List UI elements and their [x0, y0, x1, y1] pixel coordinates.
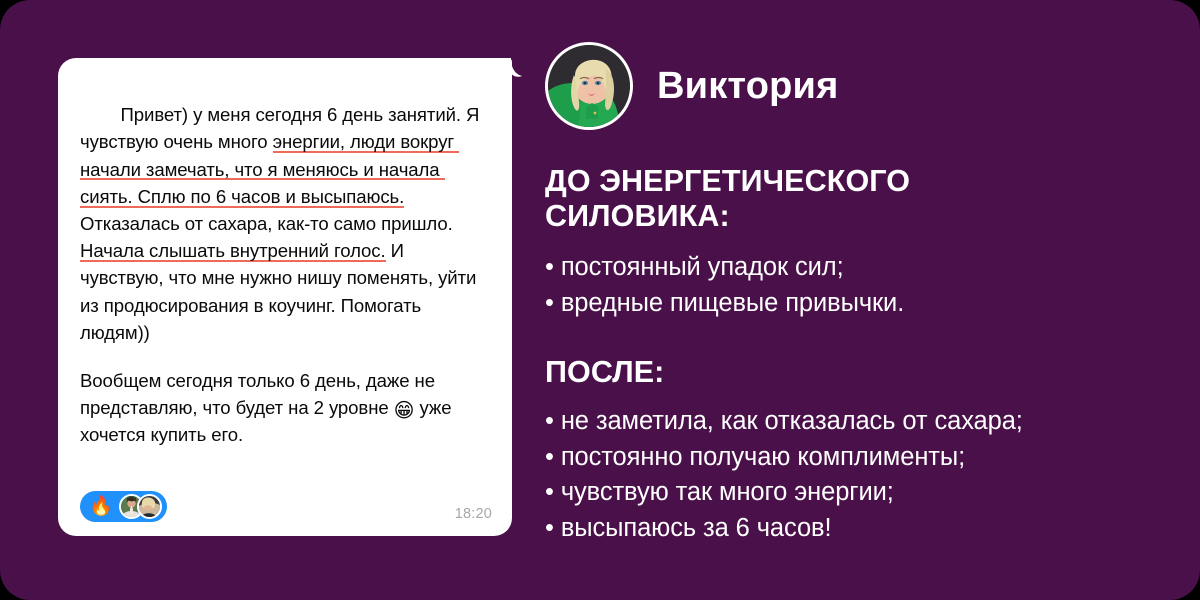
message-paragraph-1: Привет) у меня сегодня 6 день занятий. Я…	[80, 104, 484, 343]
message-reaction-pill[interactable]: 🔥	[80, 491, 167, 522]
message-text: Привет) у меня сегодня 6 день занятий. Я…	[80, 74, 492, 476]
list-item: •постоянно получаю комплименты;	[545, 440, 1174, 476]
underlined-phrase-1: энергии, люди вокруг начали замечать, чт…	[80, 131, 459, 207]
grinning-face-emoji: 😁	[394, 400, 415, 422]
bubble-tail-icon	[509, 58, 523, 80]
paragraph-spacer	[80, 346, 492, 367]
message-paragraph-2: Вообщем сегодня только 6 день, даже не п…	[80, 370, 457, 445]
section-after-title: ПОСЛЕ:	[545, 355, 1174, 390]
content-pane: Виктория ДО ЭНЕРГЕТИЧЕСКОГО СИЛОВИКА: •п…	[538, 0, 1200, 600]
message-timestamp: 18:20	[455, 506, 492, 522]
bullet-icon: •	[545, 289, 554, 317]
list-item-label: постоянно получаю комплименты;	[561, 443, 965, 471]
list-item: •вредные пищевые привычки.	[545, 286, 1174, 322]
reactor-avatar-2	[137, 494, 162, 519]
bullet-icon: •	[545, 514, 554, 542]
reactor-avatar-stack	[119, 494, 162, 519]
section-before-title: ДО ЭНЕРГЕТИЧЕСКОГО СИЛОВИКА:	[545, 164, 1174, 234]
section-before: ДО ЭНЕРГЕТИЧЕСКОГО СИЛОВИКА: •постоянный…	[545, 164, 1174, 321]
list-item-label: не заметила, как отказалась от сахара;	[561, 407, 1023, 435]
chat-message-bubble: Привет) у меня сегодня 6 день занятий. Я…	[58, 58, 512, 536]
author-name: Виктория	[657, 65, 839, 108]
section-before-list: •постоянный упадок сил; •вредные пищевые…	[545, 250, 1174, 321]
author-row: Виктория	[545, 42, 1174, 130]
bullet-icon: •	[545, 443, 554, 471]
chat-screenshot-pane: Привет) у меня сегодня 6 день занятий. Я…	[0, 0, 530, 600]
list-item-label: чувствую так много энергии;	[561, 478, 894, 506]
list-item: •чувствую так много энергии;	[545, 475, 1174, 511]
list-item-label: высыпаюсь за 6 часов!	[561, 514, 832, 542]
underlined-phrase-2: Начала слышать внутренний голос.	[80, 240, 386, 262]
list-item: •не заметила, как отказалась от сахара;	[545, 404, 1174, 440]
list-item: •высыпаюсь за 6 часов!	[545, 511, 1174, 547]
bullet-icon: •	[545, 407, 554, 435]
list-item-label: постоянный упадок сил;	[561, 253, 844, 281]
section-after: ПОСЛЕ: •не заметила, как отказалась от с…	[545, 355, 1174, 546]
bullet-icon: •	[545, 478, 554, 506]
fire-emoji: 🔥	[89, 497, 113, 516]
list-item: •постоянный упадок сил;	[545, 250, 1174, 286]
author-avatar	[545, 42, 633, 130]
list-item-label: вредные пищевые привычки.	[561, 289, 904, 317]
testimonial-card: Привет) у меня сегодня 6 день занятий. Я…	[0, 0, 1200, 600]
section-after-list: •не заметила, как отказалась от сахара; …	[545, 404, 1174, 546]
bullet-icon: •	[545, 253, 554, 281]
